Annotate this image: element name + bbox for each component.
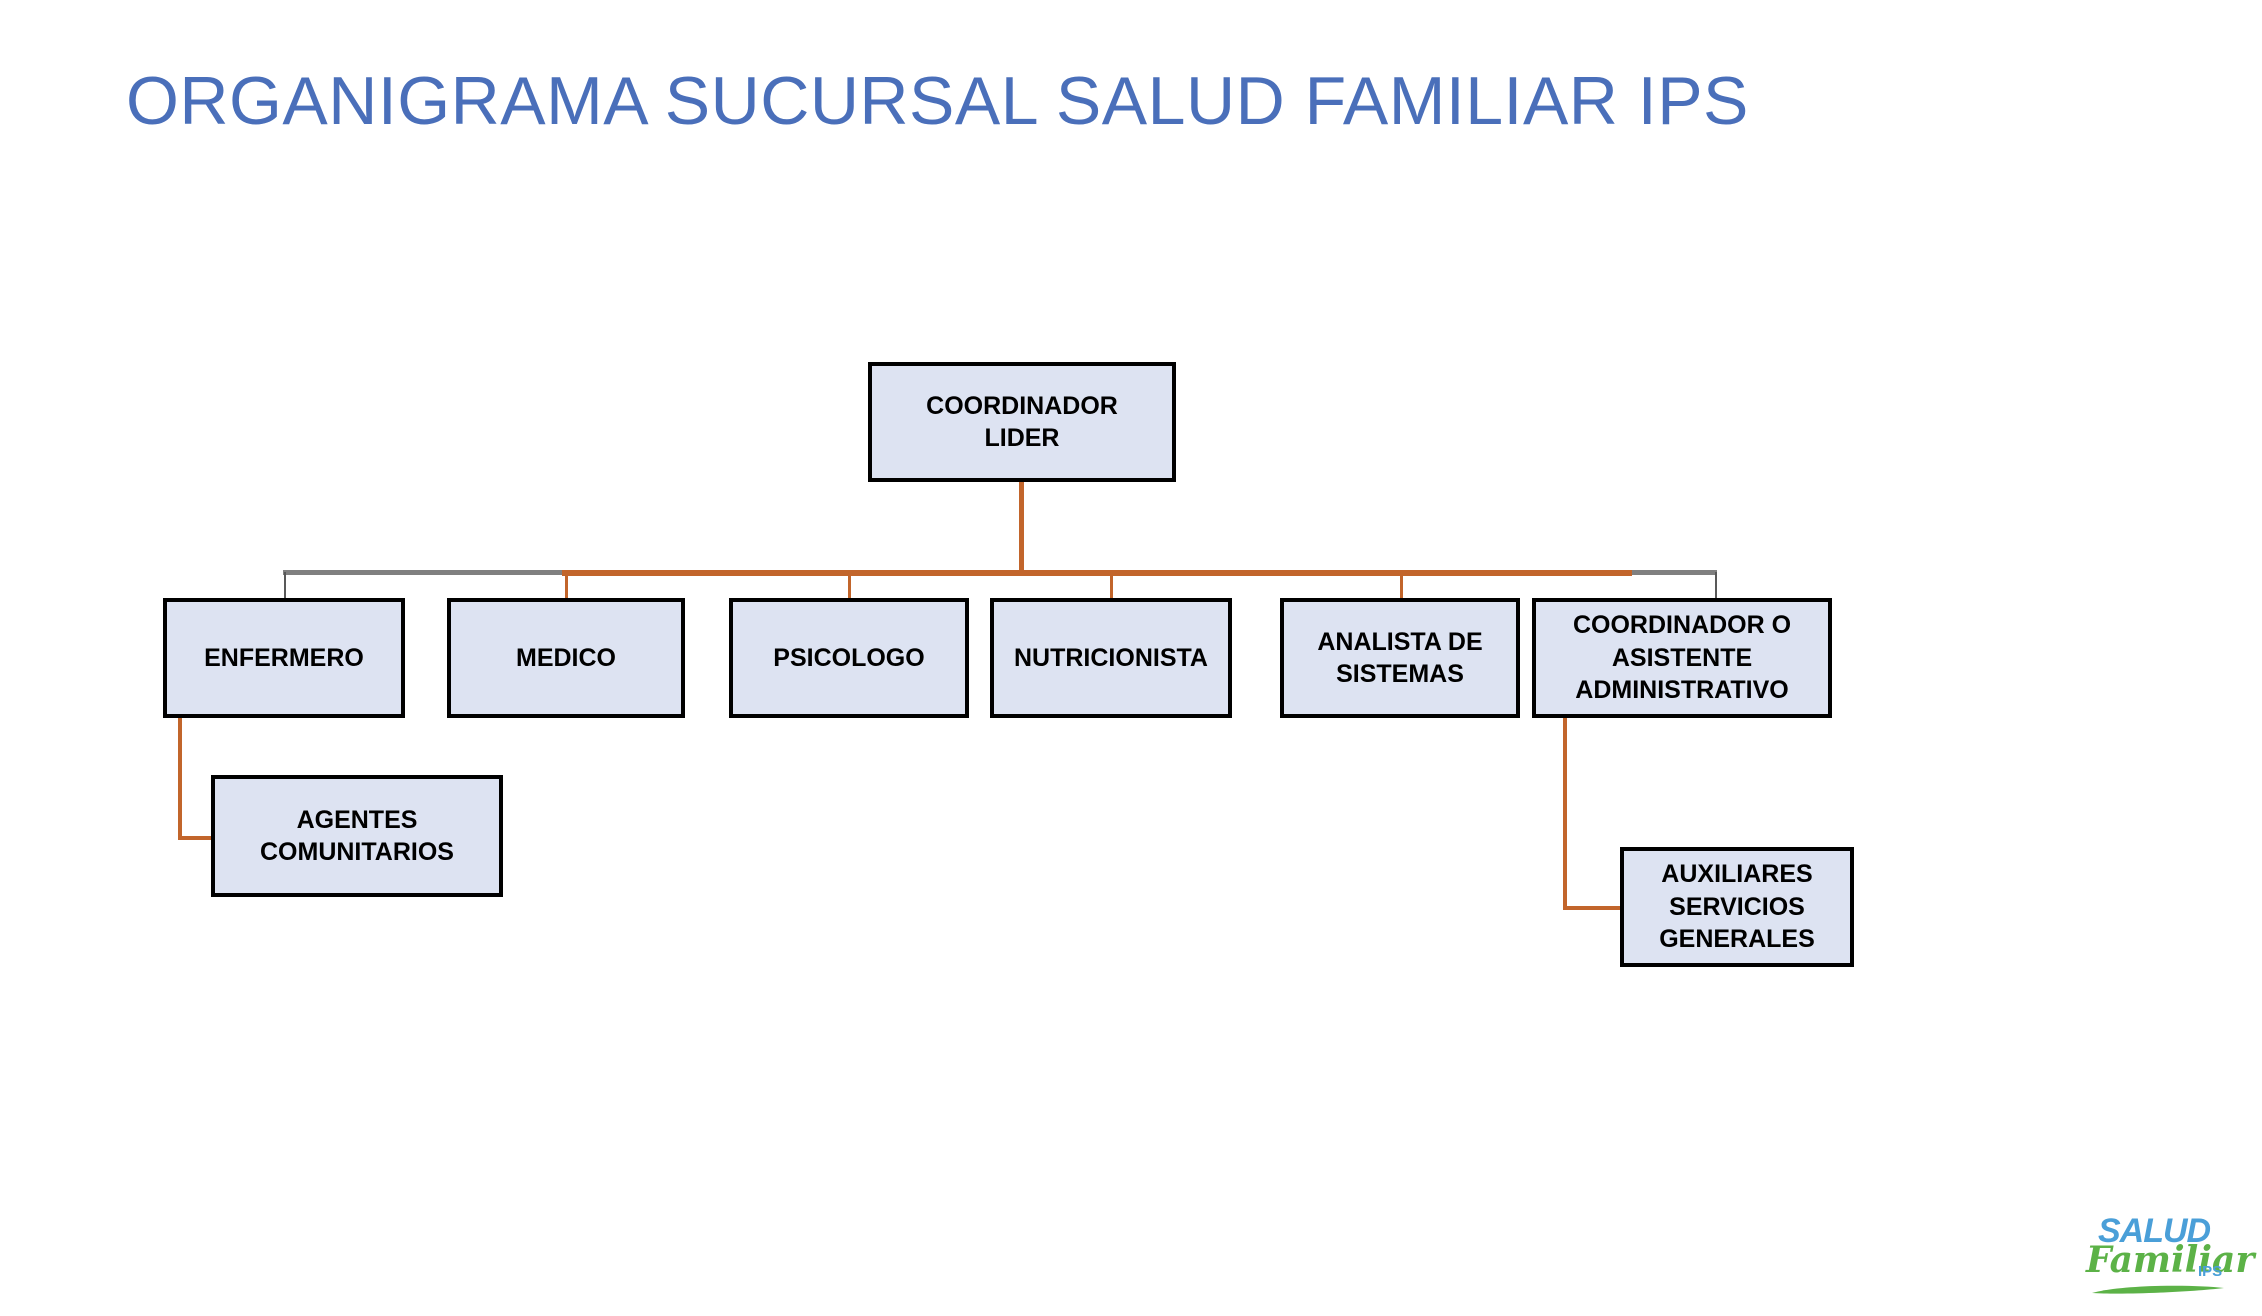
connector-admin-auxiliares-vertical	[1563, 718, 1567, 910]
org-node-label: ANALISTA DE SISTEMAS	[1317, 626, 1482, 691]
org-node-label: COORDINADOR LIDER	[926, 390, 1118, 455]
connector-leg-enfermero	[284, 572, 286, 600]
connector-admin-auxiliares-horizontal	[1563, 906, 1623, 910]
logo-word-ips: IPS	[2198, 1264, 2222, 1279]
org-node-coordinador-lider[interactable]: COORDINADOR LIDER	[868, 362, 1176, 482]
org-node-label: ENFERMERO	[204, 642, 364, 675]
org-node-analista-de-sistemas[interactable]: ANALISTA DE SISTEMAS	[1280, 598, 1520, 718]
salud-familiar-ips-logo: SALUD Familiar IPS	[2082, 1212, 2232, 1304]
org-node-psicologo[interactable]: PSICOLOGO	[729, 598, 969, 718]
org-node-enfermero[interactable]: ENFERMERO	[163, 598, 405, 718]
org-node-auxiliares-servicios-generales[interactable]: AUXILIARES SERVICIOS GENERALES	[1620, 847, 1854, 967]
org-node-nutricionista[interactable]: NUTRICIONISTA	[990, 598, 1232, 718]
org-node-medico[interactable]: MEDICO	[447, 598, 685, 718]
org-node-agentes-comunitarios[interactable]: AGENTES COMUNITARIOS	[211, 775, 503, 897]
connector-enfermero-agentes-horizontal	[178, 836, 214, 840]
connector-leg-nutricionista	[1110, 572, 1113, 600]
org-node-label: NUTRICIONISTA	[1014, 642, 1208, 675]
org-node-label: AUXILIARES SERVICIOS GENERALES	[1659, 858, 1815, 956]
logo-swoosh-icon	[2090, 1284, 2226, 1296]
connector-root-stem	[1019, 482, 1024, 574]
connector-enfermero-agentes-vertical	[178, 718, 182, 840]
logo-word-familiar: Familiar	[2086, 1242, 2254, 1278]
connector-leg-medico	[565, 572, 568, 600]
org-node-coordinador-asistente-administrativo[interactable]: COORDINADOR O ASISTENTE ADMINISTRATIVO	[1532, 598, 1832, 718]
connector-leg-psicologo	[848, 572, 851, 600]
page-title: ORGANIGRAMA SUCURSAL SALUD FAMILIAR IPS	[126, 62, 1749, 140]
org-node-label: MEDICO	[516, 642, 616, 675]
connector-leg-coordinador-admin	[1715, 572, 1717, 600]
org-node-label: COORDINADOR O ASISTENTE ADMINISTRATIVO	[1573, 609, 1791, 707]
connector-leg-analista	[1400, 572, 1403, 600]
connector-horizontal-bus-orange	[562, 570, 1632, 576]
org-node-label: AGENTES COMUNITARIOS	[260, 804, 454, 869]
slide-canvas: ORGANIGRAMA SUCURSAL SALUD FAMILIAR IPS …	[0, 0, 2262, 1316]
org-node-label: PSICOLOGO	[773, 642, 924, 675]
